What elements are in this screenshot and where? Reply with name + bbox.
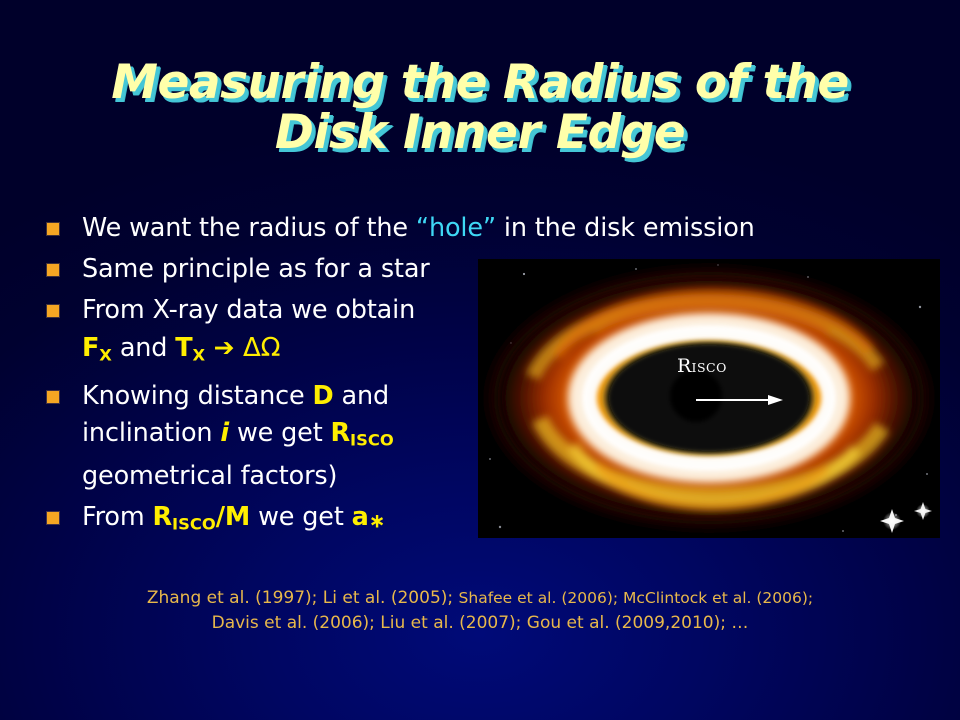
- square-bullet-icon: [47, 305, 59, 317]
- slide-canvas: Measuring the Radius of the Disk Inner E…: [0, 0, 960, 720]
- right-arrow-icon: ➔: [205, 333, 243, 362]
- accretion-disk-svg: [478, 259, 940, 538]
- b1l1-s2: “hole”: [416, 213, 496, 243]
- bullet-5-line-1: From RISCO/M we get a∗: [82, 499, 510, 543]
- citation-line-1-primary: Zhang et al. (1997); Li et al. (2005);: [147, 588, 459, 608]
- bullet-item-1-text: We want the radius of the “hole” in the …: [82, 210, 510, 247]
- bullet-3-line-1: From X-ray data we obtain: [82, 292, 510, 329]
- bullet-item-5: From RISCO/M we get a∗: [40, 499, 510, 543]
- event-horizon: [670, 370, 722, 422]
- b1l1-s3: in the disk emission: [496, 213, 755, 243]
- bullet-item-2-text: Same principle as for a star: [82, 251, 510, 288]
- bullet-item-5-text: From RISCO/M we get a∗: [82, 499, 510, 543]
- citation-line-1: Zhang et al. (1997); Li et al. (2005); S…: [0, 586, 960, 611]
- bullet-item-1: We want the radius of the “hole” in the …: [40, 210, 510, 247]
- b3l2-tx: T: [175, 333, 192, 363]
- bullet-item-2: Same principle as for a star: [40, 251, 510, 288]
- b1l1-s1: We want the radius of the: [82, 213, 416, 243]
- citation-line-1-secondary: Shafee et al. (2006); McClintock et al. …: [459, 589, 814, 607]
- b5l1-s1: From: [82, 502, 153, 532]
- b3l2-delta-omega: ΔΩ: [243, 333, 280, 363]
- page-title: Measuring the Radius of the Disk Inner E…: [0, 58, 960, 158]
- b3l2-tx-sub: X: [193, 346, 206, 365]
- bullet-2-line-1: Same principle as for a star: [82, 251, 510, 288]
- b4l1-s1: Knowing distance: [82, 381, 313, 411]
- bullet-4-line-2: inclination i we get RISCO: [82, 415, 510, 459]
- accretion-disk-image: RISCO: [478, 259, 940, 538]
- title-line-2: Disk Inner Edge: [0, 108, 960, 158]
- b3l2-fx-sub: X: [99, 346, 112, 365]
- b4l2-i: i: [220, 418, 229, 448]
- bullet-4-line-1: Knowing distance D and: [82, 378, 510, 415]
- b4l1-d: D: [313, 381, 334, 411]
- square-bullet-icon: [47, 391, 59, 403]
- b5l1-over-m: /M: [216, 502, 250, 532]
- citation-block: Zhang et al. (1997); Li et al. (2005); S…: [0, 586, 960, 636]
- bullet-item-3: From X-ray data we obtain FX and TX ➔ ΔΩ: [40, 292, 510, 374]
- bullet-1-line-1: We want the radius of the “hole” in the …: [82, 210, 510, 247]
- b4l2-s3: we get: [229, 418, 331, 448]
- bullet-item-4: Knowing distance D and inclination i we …: [40, 378, 510, 496]
- b3l2-and: and: [112, 333, 175, 363]
- b4l2-r-sub: ISCO: [350, 430, 394, 449]
- b5l1-r-sub: ISCO: [172, 515, 216, 534]
- title-line-1: Measuring the Radius of the: [0, 58, 960, 108]
- square-bullet-icon: [47, 512, 59, 524]
- bullet-3-line-2: FX and TX ➔ ΔΩ: [82, 329, 510, 374]
- square-bullet-icon: [47, 264, 59, 276]
- square-bullet-icon: [47, 223, 59, 235]
- b5l1-s5: we get: [250, 502, 352, 532]
- b4l2-r: R: [331, 418, 351, 448]
- bullet-item-3-text: From X-ray data we obtain FX and TX ➔ ΔΩ: [82, 292, 510, 374]
- bullet-item-4-text: Knowing distance D and inclination i we …: [82, 378, 510, 496]
- bullet-4-line-3: geometrical factors): [82, 458, 510, 495]
- b4l1-s3: and: [334, 381, 389, 411]
- b5l1-a-star: ∗: [369, 510, 386, 533]
- bullet-list: We want the radius of the “hole” in the …: [40, 210, 510, 547]
- b4l2-s1: inclination: [82, 418, 220, 448]
- b3l2-fx: F: [82, 333, 99, 363]
- b5l1-r: R: [153, 502, 173, 532]
- citation-line-2: Davis et al. (2006); Liu et al. (2007); …: [0, 611, 960, 636]
- b5l1-a: a: [352, 502, 369, 532]
